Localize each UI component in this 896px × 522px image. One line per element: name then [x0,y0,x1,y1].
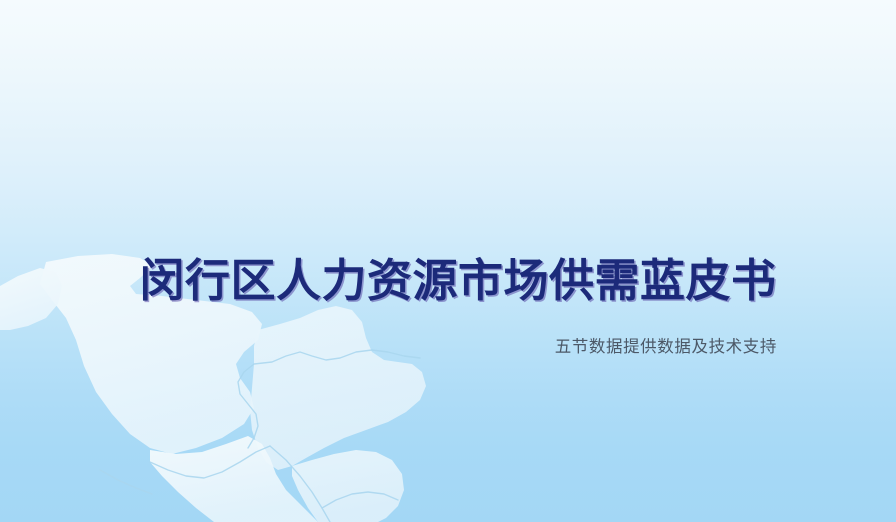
main-title-container: 闵行区人力资源市场供需蓝皮书 [137,252,779,310]
page-title: 闵行区人力资源市场供需蓝皮书 [137,252,779,310]
title-block: 闵行区人力资源市场供需蓝皮书 五节数据提供数据及技术支持 [0,0,896,522]
cover-slide: 闵行区人力资源市场供需蓝皮书 五节数据提供数据及技术支持 [0,0,896,522]
page-subtitle: 五节数据提供数据及技术支持 [137,336,777,358]
subtitle-container: 五节数据提供数据及技术支持 [137,336,777,358]
